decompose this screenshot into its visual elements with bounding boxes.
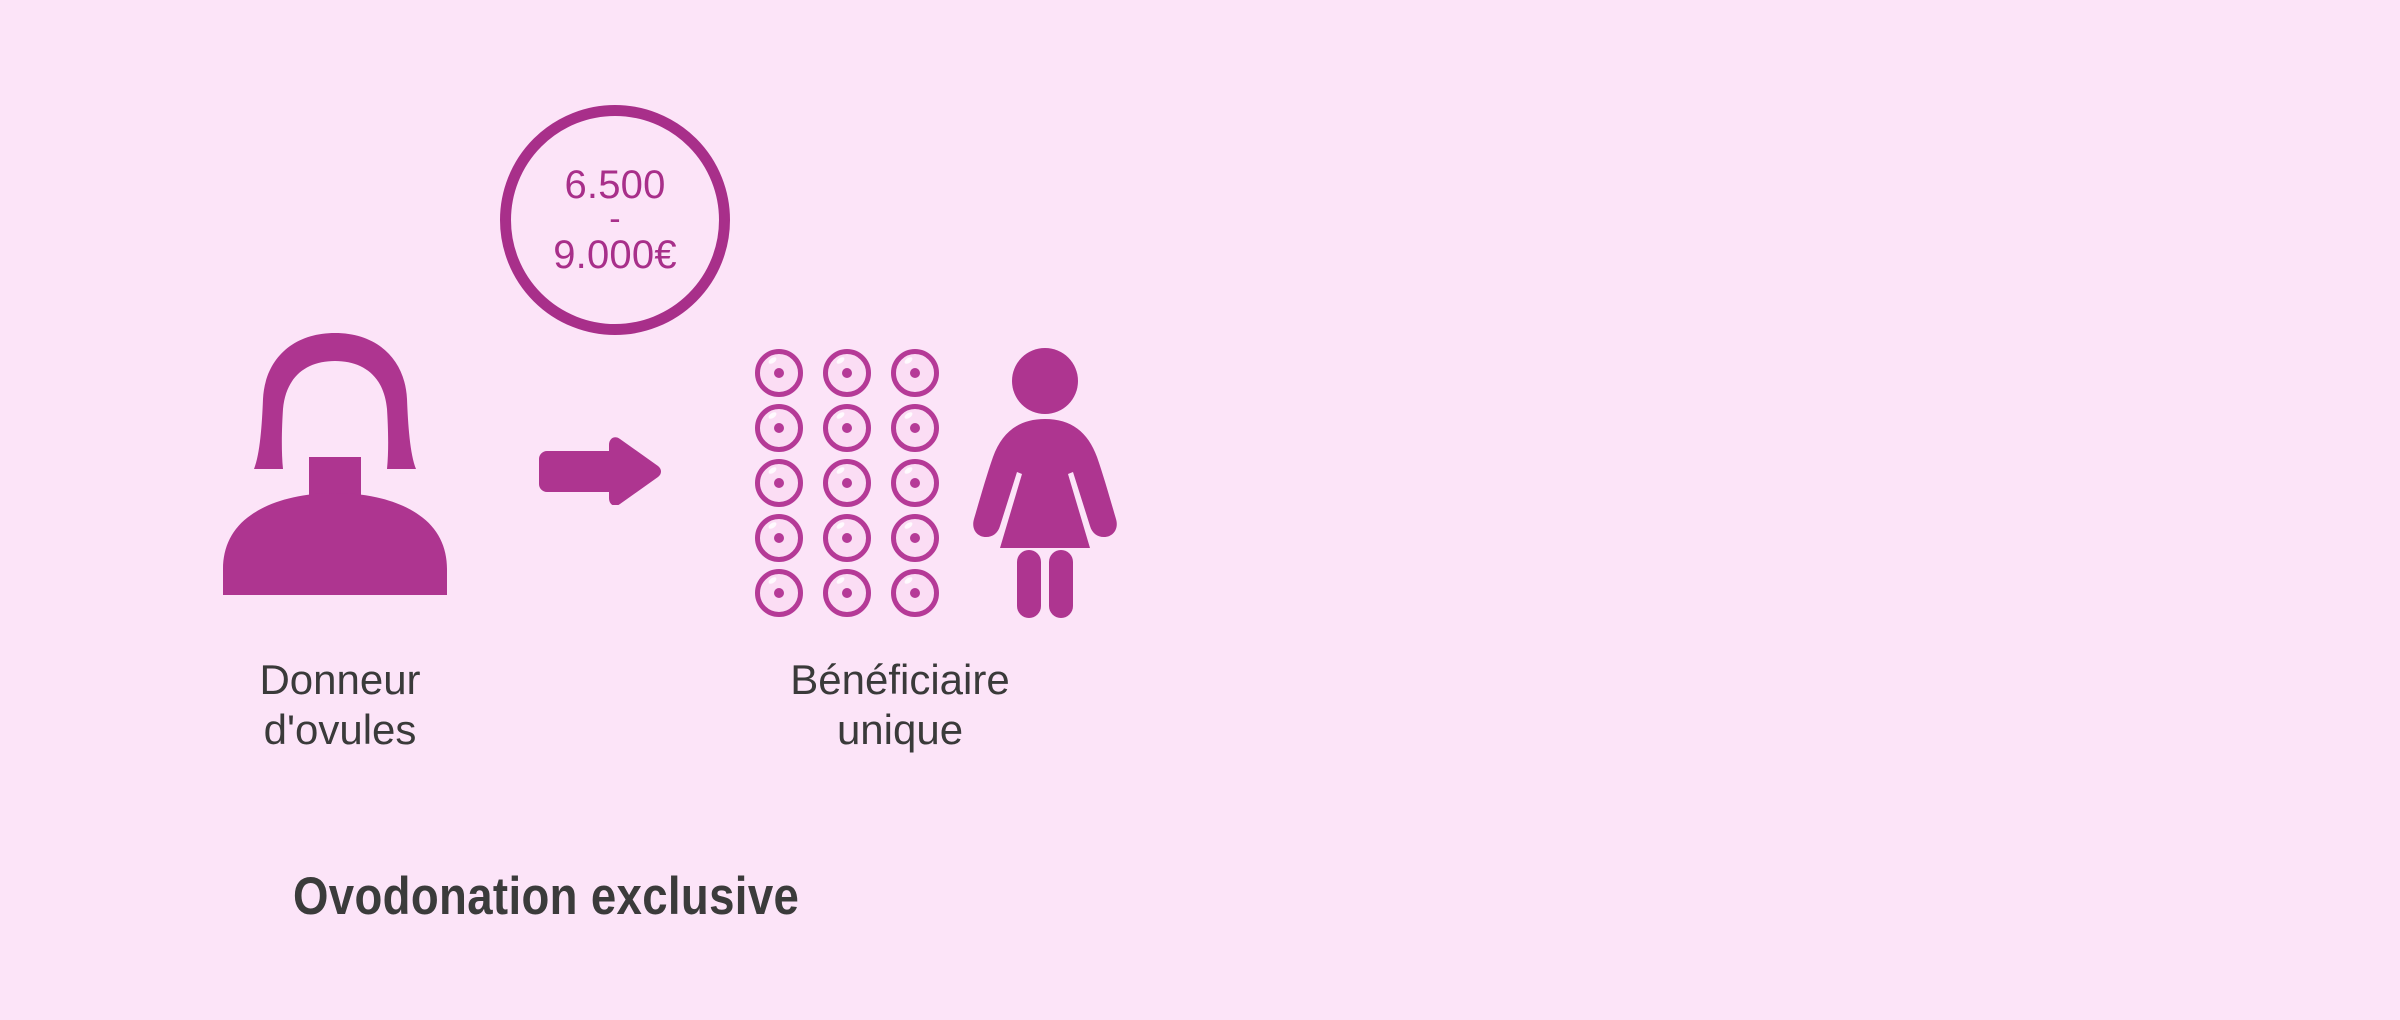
price-badge: 6.500 - 9.000€: [500, 105, 730, 335]
donor-caption-line1: Donneur: [120, 655, 560, 705]
oocyte-icon: [755, 404, 803, 452]
oocyte-icon: [891, 569, 939, 617]
recipient-woman-pictogram-icon: [955, 345, 1135, 620]
donor-caption-line2: d'ovules: [120, 705, 560, 755]
oocyte-icon: [891, 459, 939, 507]
recipient-caption-line2: unique: [670, 705, 1130, 755]
oocyte-icon: [823, 459, 871, 507]
oocyte-icon: [823, 514, 871, 562]
arrow-right-icon: [533, 433, 663, 505]
recipient-caption-line1: Bénéficiaire: [670, 655, 1130, 705]
oocyte-icon: [755, 459, 803, 507]
oocyte-icon: [891, 404, 939, 452]
oocyte-icon: [755, 569, 803, 617]
oocyte-icon: [823, 404, 871, 452]
oocyte-icon: [891, 349, 939, 397]
oocyte-icon: [891, 514, 939, 562]
egg-donor-silhouette-icon: [205, 325, 465, 595]
oocyte-icon: [755, 514, 803, 562]
recipient-caption: Bénéficiaire unique: [670, 655, 1130, 754]
ovodonation-panel: 6.500 - 9.000€: [0, 0, 1340, 1020]
oocyte-grid: [745, 345, 949, 620]
oocyte-icon: [755, 349, 803, 397]
donor-caption: Donneur d'ovules: [120, 655, 560, 754]
included-services-panel: Contrôles par ultrasons: [1340, 0, 2400, 1020]
left-section-heading: Ovodonation exclusive: [293, 866, 799, 927]
price-amount-to: 9.000€: [553, 231, 677, 280]
oocyte-icon: [823, 569, 871, 617]
infographic-root: 6.500 - 9.000€: [0, 0, 2400, 1020]
oocyte-icon: [823, 349, 871, 397]
price-separator: -: [609, 209, 621, 230]
